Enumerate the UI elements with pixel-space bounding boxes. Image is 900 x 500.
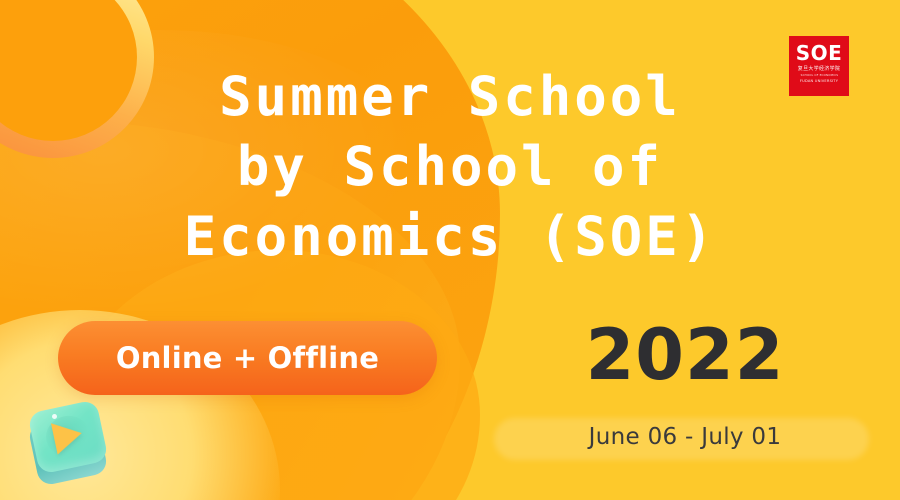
play-icon [24, 392, 120, 492]
page-title-line-3: Economics (SOE) [0, 202, 900, 272]
mode-badge[interactable]: Online + Offline [58, 321, 437, 395]
page-title-line-1: Summer School [0, 62, 900, 132]
page-title: Summer School by School of Economics (SO… [0, 62, 900, 272]
summer-school-banner: SOE 复旦大学经济学院 SCHOOL OF ECONOMICS FUDAN U… [0, 0, 900, 500]
year-label: 2022 [500, 318, 870, 392]
page-title-line-2: by School of [0, 132, 900, 202]
date-range-label: June 06 - July 01 [500, 424, 870, 450]
play-icon-highlight [52, 414, 57, 419]
mode-badge-label: Online + Offline [116, 341, 379, 375]
soe-logo-mark: SOE [796, 43, 843, 63]
